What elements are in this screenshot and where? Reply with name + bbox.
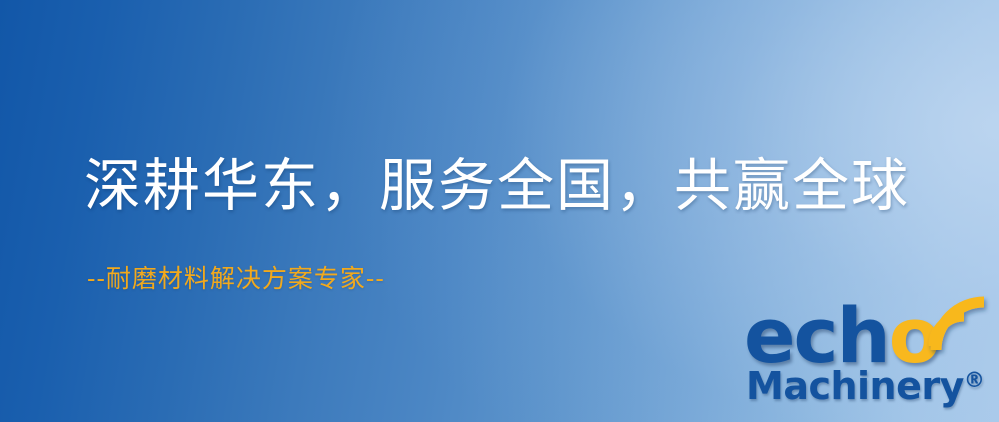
echo-machinery-logo: echo Machinery® (744, 298, 994, 418)
registered-trademark-icon: ® (964, 368, 985, 392)
logo-tagline: Machinery® (746, 360, 985, 406)
banner-subtitle: --耐磨材料解决方案专家-- (87, 263, 385, 295)
logo-tagline-text: Machinery (746, 364, 964, 408)
echo-wave-icon (926, 294, 996, 364)
banner-headline: 深耕华东，服务全国，共赢全球 (84, 152, 910, 220)
hero-banner: 深耕华东，服务全国，共赢全球 --耐磨材料解决方案专家-- echo Machi… (0, 0, 999, 422)
